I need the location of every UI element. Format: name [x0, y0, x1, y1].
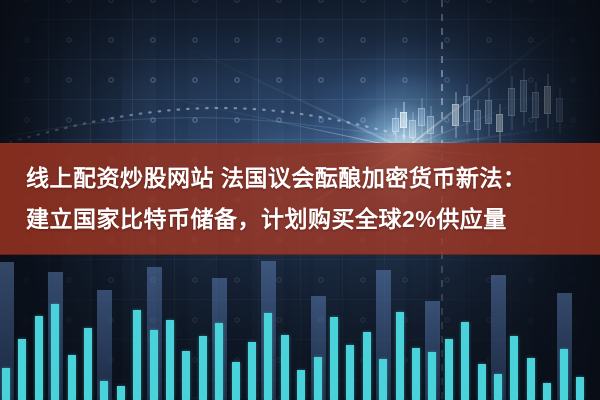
volume-bar — [576, 377, 584, 400]
volume-bar — [18, 339, 26, 400]
volume-bar — [199, 336, 207, 400]
volume-bar — [248, 342, 256, 400]
volume-bar — [281, 335, 289, 400]
volume-bar — [182, 351, 190, 400]
volume-bar — [527, 358, 535, 400]
volume-bar — [543, 383, 551, 400]
volume-bar — [166, 320, 174, 400]
volume-bar — [428, 352, 436, 400]
volume-bar — [150, 330, 158, 400]
volume-bar — [133, 310, 141, 400]
bar-chart — [0, 255, 600, 400]
volume-bar — [264, 313, 272, 400]
volume-bar — [510, 336, 518, 400]
volume-bar — [68, 355, 76, 400]
volume-bar — [346, 345, 354, 400]
headline-banner: 线上配资炒股网站 法国议会酝酿加密货币新法： 建立国家比特币储备，计划购买全球2… — [0, 143, 600, 255]
volume-bar — [297, 370, 305, 400]
volume-bar — [117, 386, 125, 400]
volume-bar — [100, 381, 108, 400]
volume-bar — [2, 368, 10, 400]
volume-bar — [84, 328, 92, 400]
volume-bar — [461, 322, 469, 400]
volume-bar — [330, 317, 338, 400]
volume-bar — [396, 312, 404, 400]
headline-line-2: 建立国家比特币储备，计划购买全球2%供应量 — [26, 199, 574, 240]
band-bottom-edge — [0, 254, 600, 255]
headline-line-1: 线上配资炒股网站 法国议会酝酿加密货币新法： — [26, 158, 574, 199]
volume-bar — [363, 332, 371, 400]
volume-bar — [35, 316, 43, 400]
volume-bar — [478, 364, 486, 400]
volume-bar — [445, 339, 453, 400]
volume-bar — [379, 359, 387, 400]
volume-bar — [560, 349, 568, 400]
volume-bar — [51, 304, 59, 400]
volume-bar — [412, 348, 420, 400]
volume-bar — [215, 323, 223, 400]
banner-image: 线上配资炒股网站 法国议会酝酿加密货币新法： 建立国家比特币储备，计划购买全球2… — [0, 0, 600, 400]
volume-bar — [314, 357, 322, 400]
volume-bar — [232, 362, 240, 400]
volume-bar — [494, 374, 502, 400]
